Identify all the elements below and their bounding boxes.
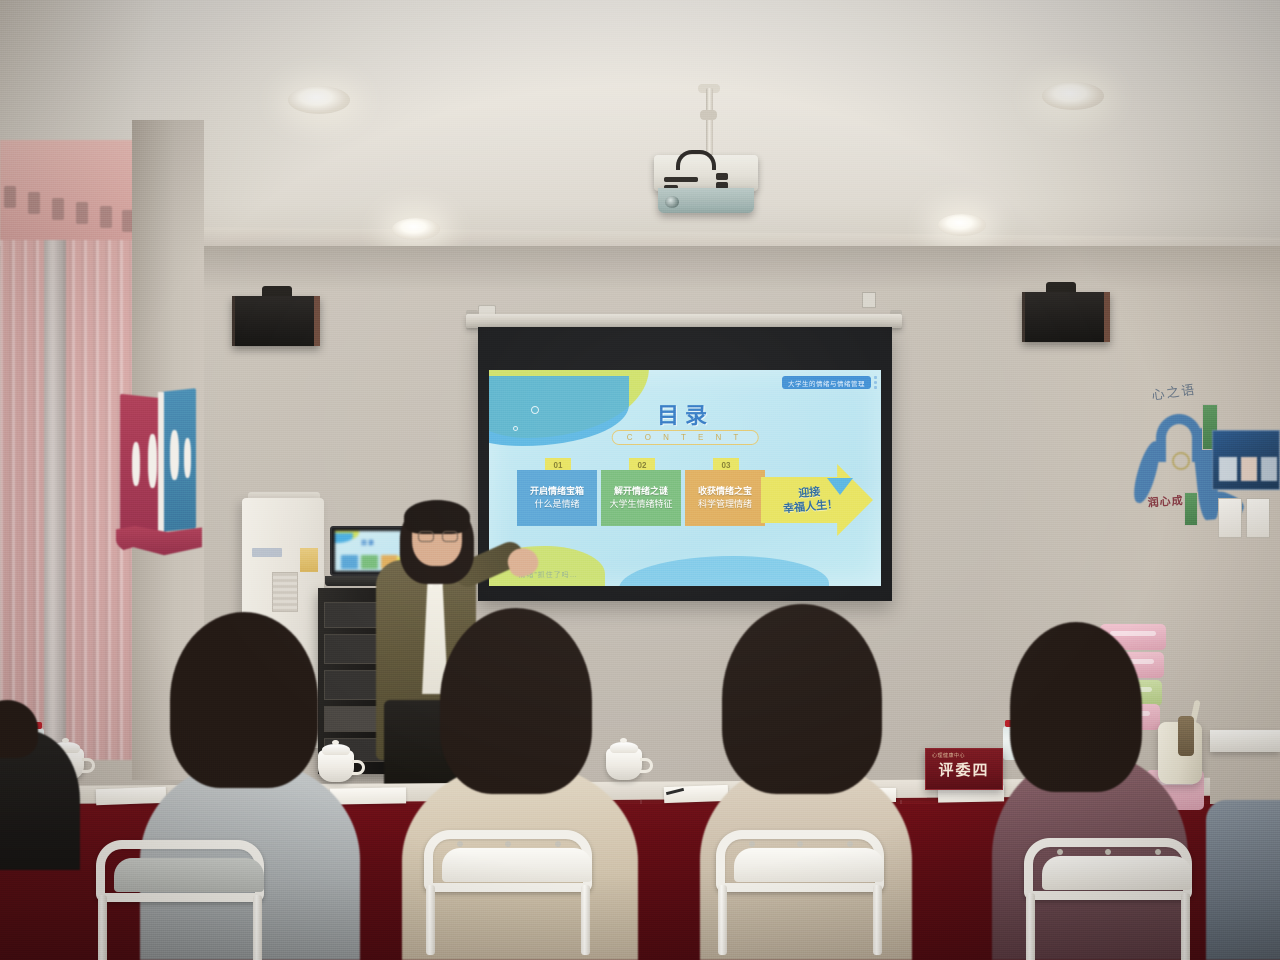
- projector-pole: [706, 88, 713, 156]
- score-sheet-1: [96, 787, 167, 805]
- downlight-front-right: [1042, 82, 1104, 110]
- projection-screen-housing[interactable]: [466, 314, 902, 328]
- curtain-valance: [0, 140, 140, 240]
- bulletin-poster: [1212, 430, 1280, 490]
- teacup-3-knob: [620, 738, 627, 743]
- book-decal-figure-3: [170, 430, 179, 480]
- heart-inner-seal: [1172, 452, 1190, 470]
- slide-item-3-line2: 科学管理情绪: [698, 498, 752, 511]
- folding-chair-3-back: [716, 830, 884, 892]
- folding-chair-3-panel: [734, 848, 884, 882]
- classroom-photo-scene: 心之语 润心成长 大学生的情绪与情绪管理 目录 C O N T E N T 01…: [0, 0, 1280, 960]
- decal-side-panel-2: [1246, 498, 1270, 538]
- slide-subtitle: C O N T E N T: [612, 430, 759, 445]
- wall-power-socket: [862, 292, 876, 308]
- air-conditioner-label: [300, 548, 318, 572]
- attendee-1-hair: [170, 612, 318, 788]
- folding-chair-3[interactable]: [716, 830, 884, 940]
- slide-header-tag: 大学生的情绪与情绪管理: [782, 376, 871, 389]
- folding-chair-2-panel: [442, 848, 592, 882]
- folding-chair-1-back: [96, 840, 264, 902]
- slide-title: 目录: [489, 398, 881, 430]
- score-sheet-2: [330, 787, 406, 804]
- projected-slide: 大学生的情绪与情绪管理 目录 C O N T E N T 01 开启情绪宝箱 什…: [489, 370, 881, 586]
- book-decal-figure-2: [148, 434, 157, 488]
- attendee-3-hair: [722, 604, 882, 794]
- book-decal-figure-4: [184, 438, 191, 478]
- projector-ports: [664, 177, 698, 182]
- slide-blob-blue-bottom: [619, 556, 829, 586]
- side-table: [1210, 730, 1280, 752]
- slide-arrow-line2: 幸福人生！: [783, 498, 839, 517]
- projector-lens: [665, 196, 679, 208]
- folding-chair-1-panel: [114, 858, 264, 892]
- teacup-2-lid: [322, 744, 350, 755]
- folding-chair-4[interactable]: [1024, 838, 1192, 948]
- slide-corner-dots: [874, 376, 878, 391]
- poster-thumb-2: [1241, 457, 1257, 481]
- slide-item-3: 收获情绪之宝 科学管理情绪: [685, 470, 765, 526]
- folding-chair-4-back: [1024, 838, 1192, 900]
- book-decal-spine: [158, 392, 164, 534]
- downlight-back-right: [938, 214, 986, 236]
- book-decal-ribbon: [116, 526, 202, 560]
- attendee-2-hair: [440, 608, 592, 794]
- folding-chair-2-back: [424, 830, 592, 892]
- poster-thumb-3: [1261, 457, 1277, 481]
- teacup-2-knob: [332, 740, 339, 745]
- decal-side-panel: [1218, 498, 1242, 538]
- slide-arrow-text: 迎接 幸福人生！: [769, 471, 851, 530]
- slide-item-2-line2: 大学生情绪特征: [609, 498, 672, 511]
- air-conditioner-logo: [252, 548, 282, 557]
- decal-green-panel-bottom: [1184, 492, 1198, 526]
- slide-item-1-line1: 开启情绪宝箱: [530, 485, 584, 498]
- open-book-wall-decal: [108, 388, 202, 568]
- slide-item-3-line1: 收获情绪之宝: [698, 485, 752, 498]
- attendee-4-hair: [1010, 622, 1142, 792]
- folding-chair-1[interactable]: [96, 840, 264, 950]
- projector-hdmi-port: [716, 173, 728, 180]
- slide-item-1: 开启情绪宝箱 什么是情绪: [517, 470, 597, 526]
- score-sheet-3: [664, 785, 729, 803]
- slide-item-1-line2: 什么是情绪: [534, 498, 579, 511]
- book-decal-figure-1: [132, 442, 140, 486]
- wall-speaker-right: [1022, 292, 1110, 342]
- teacup-3-lid: [610, 742, 638, 753]
- folding-chair-2[interactable]: [424, 830, 592, 940]
- presenter-hair-front: [404, 500, 470, 534]
- slide-item-2: 解开情绪之谜 大学生情绪特征: [601, 470, 681, 526]
- attendee-right-edge-body: [1206, 800, 1280, 960]
- air-conditioner-vent: [272, 572, 298, 612]
- slide-item-2-line1: 解开情绪之谜: [614, 485, 668, 498]
- judge-placard-mark: 心理健康中心: [932, 752, 965, 759]
- presenter-glasses: [418, 531, 458, 542]
- kettle-handle[interactable]: [1178, 716, 1194, 756]
- folding-chair-4-panel: [1042, 856, 1192, 890]
- projector-pole-knob: [700, 110, 717, 120]
- teacup-1-knob: [62, 738, 69, 743]
- poster-thumb-1: [1219, 457, 1237, 481]
- downlight-back-left: [392, 218, 440, 240]
- wall-speaker-left: [232, 296, 320, 346]
- projector-cable: [676, 150, 716, 170]
- downlight-front-left: [288, 86, 350, 114]
